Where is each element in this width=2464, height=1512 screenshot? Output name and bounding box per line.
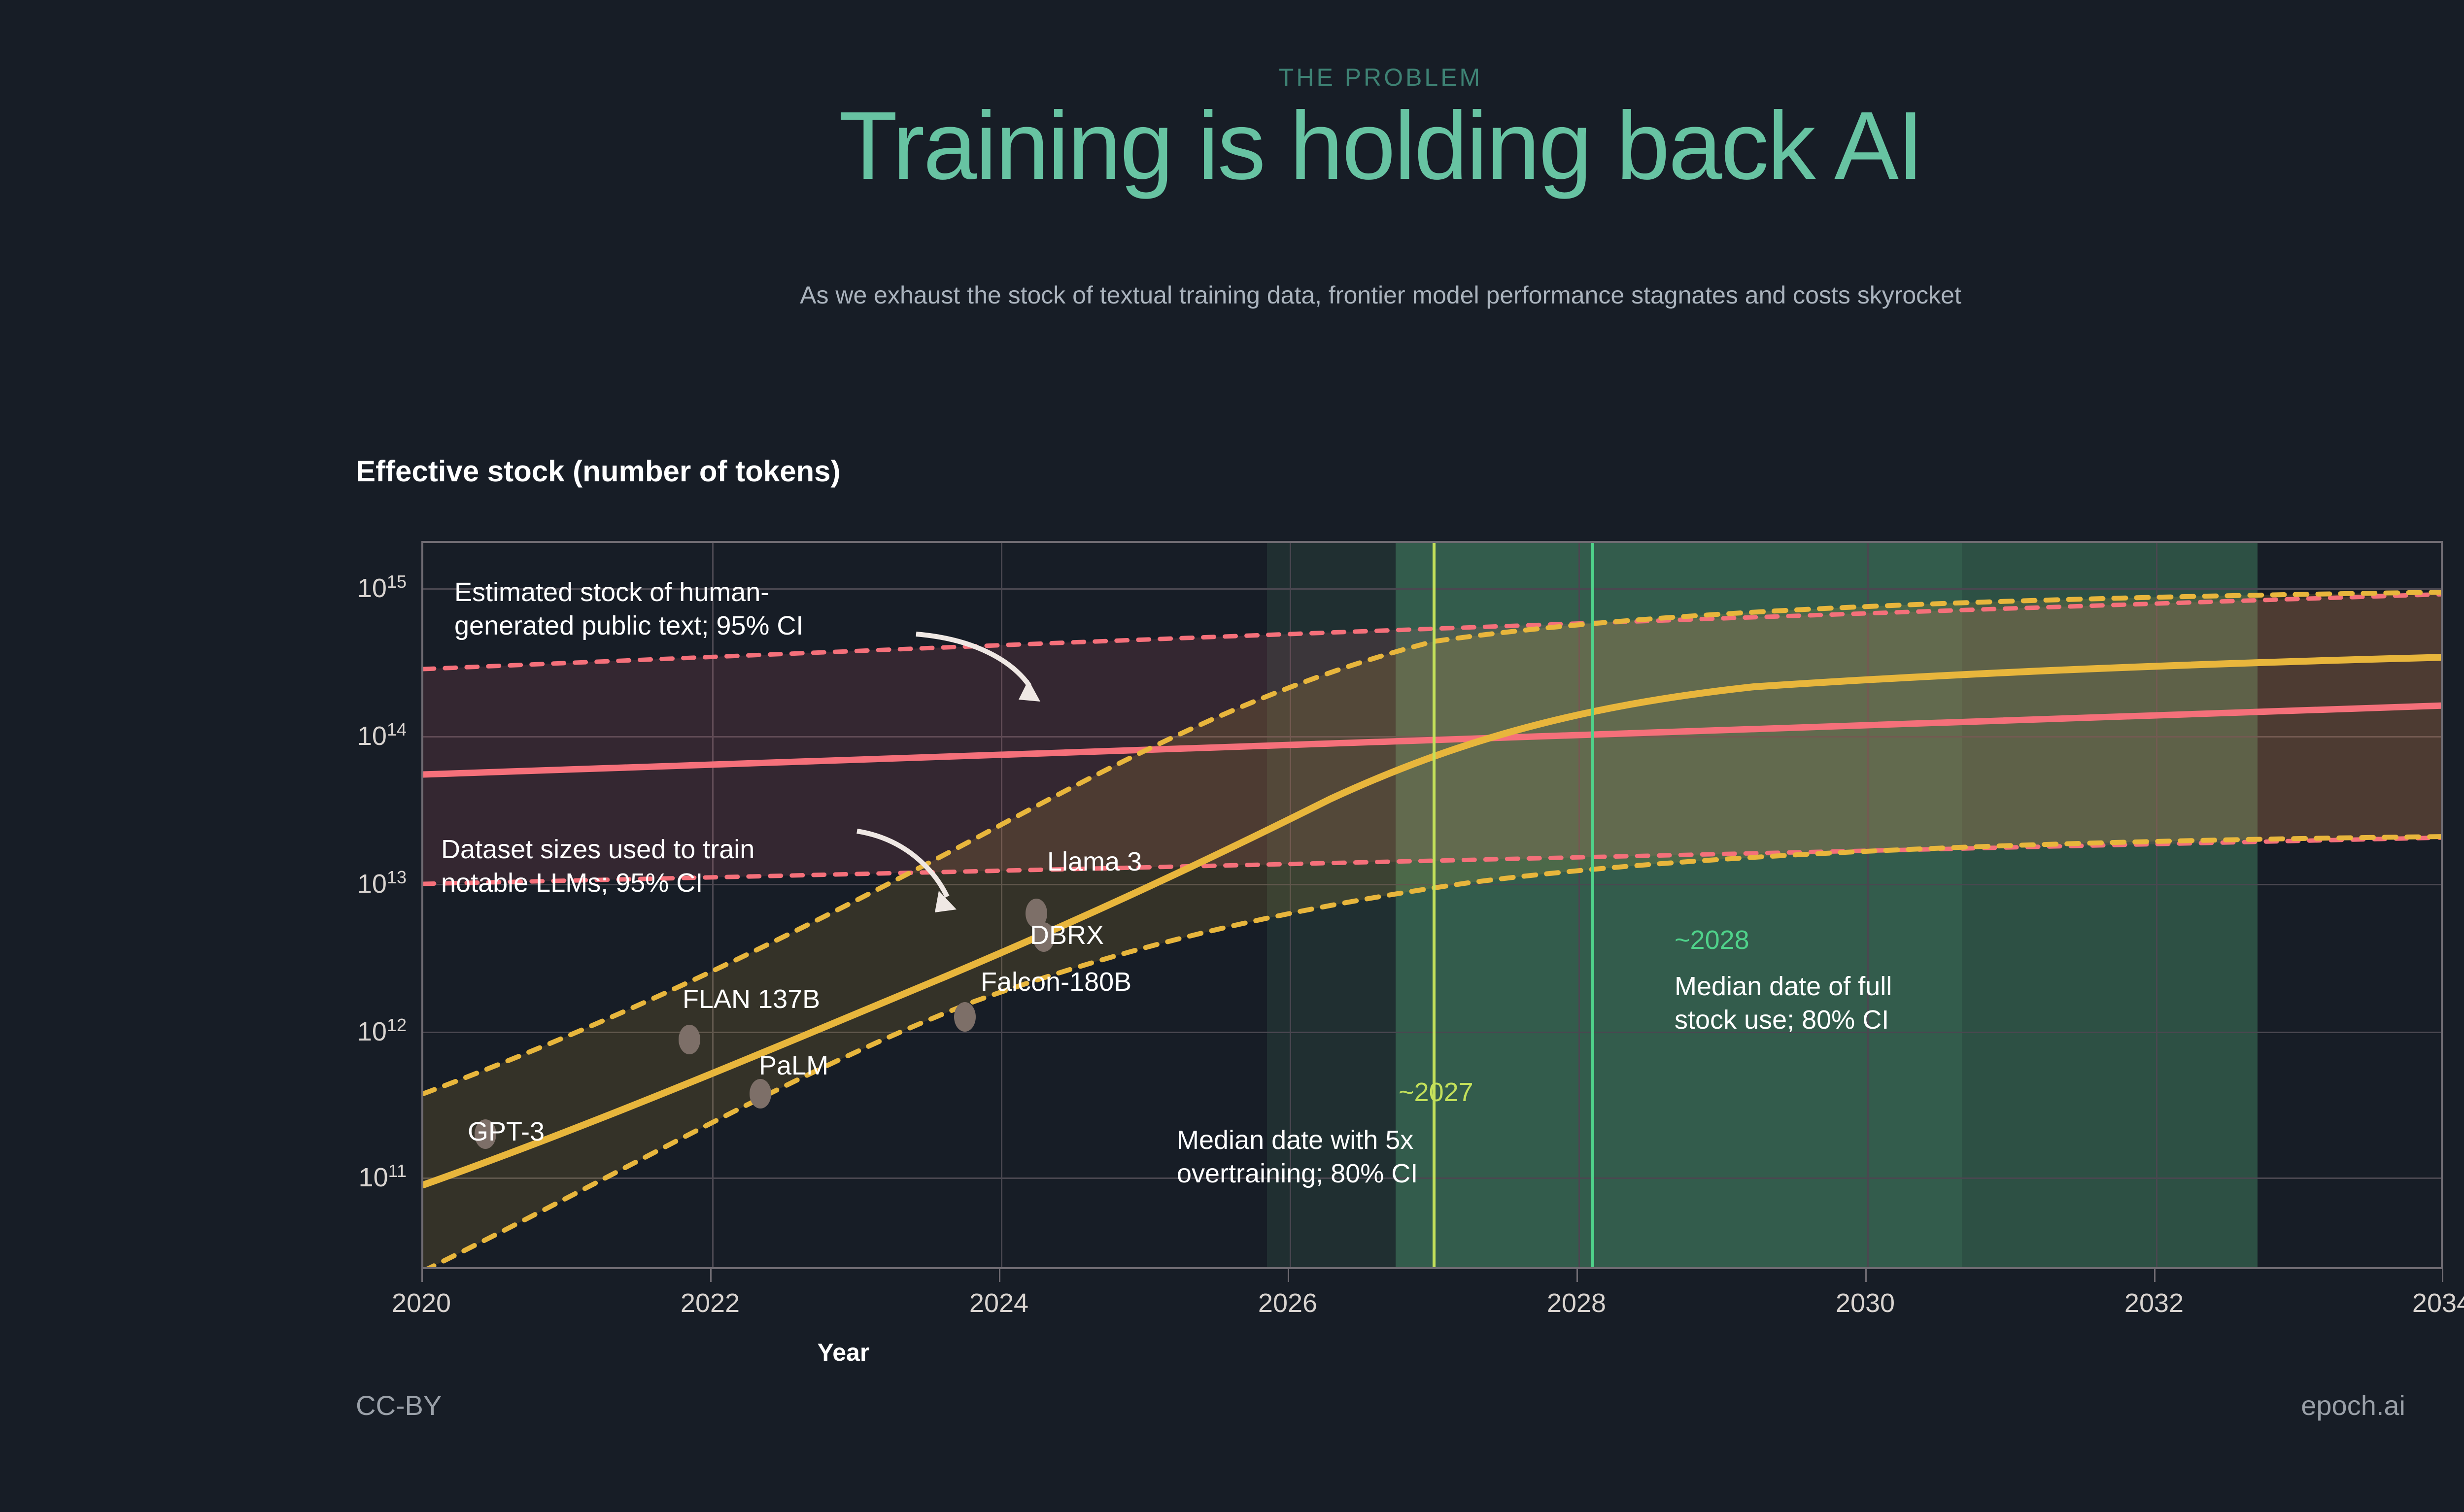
x-tick-mark bbox=[1288, 1269, 1289, 1282]
median-year-2027: ~2027 bbox=[1399, 1077, 1473, 1108]
data-point-palm bbox=[750, 1079, 771, 1109]
license-label: CC-BY bbox=[356, 1389, 442, 1421]
slide-root: THE PROBLEM Training is holding back AI … bbox=[0, 0, 2464, 1512]
dataset-annotation-text: Dataset sizes used to train notable LLMs… bbox=[441, 833, 754, 900]
median-year-2028: ~2028 bbox=[1675, 925, 1749, 955]
x-tick-mark bbox=[999, 1269, 1000, 1282]
x-tick-mark bbox=[421, 1269, 423, 1282]
y-tick-1e14: 1014 bbox=[303, 719, 407, 751]
x-tick-mark bbox=[2442, 1269, 2443, 1282]
x-tick-label: 2034 bbox=[2378, 1288, 2464, 1318]
x-tick-label: 2026 bbox=[1224, 1288, 1352, 1318]
x-tick-label: 2022 bbox=[646, 1288, 774, 1318]
y-tick-1e11: 1011 bbox=[303, 1161, 407, 1193]
point-label-dbrx: DBRX bbox=[1030, 920, 1104, 950]
chart-title: Effective stock (number of tokens) bbox=[356, 454, 841, 488]
stock-annotation-text: Estimated stock of human- generated publ… bbox=[454, 575, 803, 642]
point-label-llama3: Llama 3 bbox=[1047, 846, 1142, 877]
x-axis-title: Year bbox=[0, 1338, 2224, 1367]
page-subtitle: As we exhaust the stock of textual train… bbox=[0, 281, 2464, 309]
point-label-falcon180b: Falcon-180B bbox=[981, 967, 1131, 997]
data-point-falcon180b bbox=[954, 1002, 976, 1032]
x-tick-label: 2030 bbox=[1801, 1288, 1929, 1318]
y-tick-1e15: 1015 bbox=[303, 571, 407, 604]
x-tick-mark bbox=[1576, 1269, 1578, 1282]
source-label[interactable]: epoch.ai bbox=[2301, 1389, 2405, 1421]
median-5x-overtraining-text: Median date with 5x overtraining; 80% CI bbox=[1177, 1123, 1418, 1190]
point-label-gpt3: GPT-3 bbox=[468, 1116, 545, 1147]
y-tick-1e13: 1013 bbox=[303, 867, 407, 899]
x-tick-label: 2032 bbox=[2090, 1288, 2218, 1318]
plot-area bbox=[421, 541, 2443, 1269]
x-tick-label: 2028 bbox=[1512, 1288, 1641, 1318]
page-title: Training is holding back AI bbox=[0, 94, 2464, 198]
point-label-palm: PaLM bbox=[759, 1050, 828, 1081]
x-tick-mark bbox=[710, 1269, 712, 1282]
data-point-flan137b bbox=[679, 1025, 700, 1054]
x-tick-label: 2024 bbox=[935, 1288, 1063, 1318]
x-tick-label: 2020 bbox=[357, 1288, 485, 1318]
eyebrow-label: THE PROBLEM bbox=[0, 63, 2464, 92]
plot-inner bbox=[423, 543, 2441, 1267]
point-label-flan137b: FLAN 137B bbox=[683, 984, 820, 1014]
x-tick-mark bbox=[2154, 1269, 2156, 1282]
x-tick-mark bbox=[1865, 1269, 1867, 1282]
chart-svg bbox=[423, 543, 2441, 1267]
median-full-stock-use-text: Median date of full stock use; 80% CI bbox=[1675, 970, 1892, 1037]
y-tick-1e12: 1012 bbox=[303, 1015, 407, 1047]
